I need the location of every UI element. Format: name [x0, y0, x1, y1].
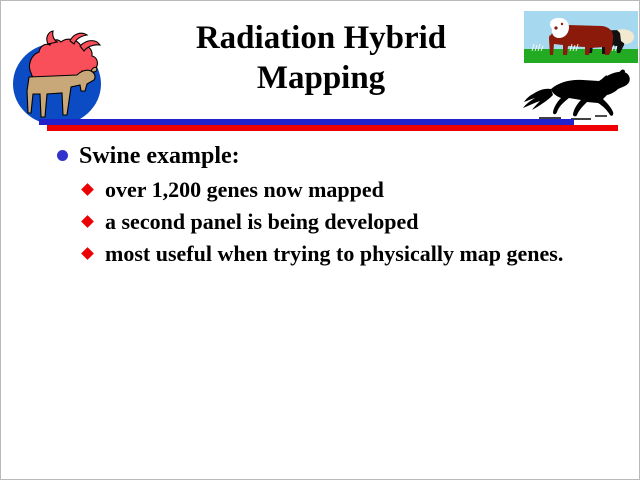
bullet-item-level2: most useful when trying to physically ma… — [81, 239, 621, 269]
bullet-level1-text: Swine example: — [79, 143, 240, 169]
sub-bullet-list: over 1,200 genes now mapped a second pan… — [81, 175, 621, 269]
title-line-2: Mapping — [121, 58, 521, 98]
bullet-item-level2: a second panel is being developed — [81, 207, 621, 237]
livestock-logo — [7, 5, 111, 125]
slide-canvas: Radiation Hybrid Mapping — [0, 0, 640, 480]
page-title: Radiation Hybrid Mapping — [121, 18, 521, 98]
bullet-item-level1: Swine example: — [51, 141, 621, 171]
blue-disc-bullet-icon — [57, 150, 68, 161]
title-line-1: Radiation Hybrid — [196, 20, 446, 56]
slide-body: Swine example: over 1,200 genes now mapp… — [51, 141, 621, 271]
bullet-level2-text: over 1,200 genes now mapped — [105, 177, 384, 202]
bullet-item-level2: over 1,200 genes now mapped — [81, 175, 621, 205]
red-diamond-bullet-icon — [81, 215, 94, 228]
bullet-level2-text: a second panel is being developed — [105, 209, 419, 234]
red-diamond-bullet-icon — [81, 247, 94, 260]
divider-bar-red — [47, 125, 618, 131]
cattle-in-pasture-picture — [524, 11, 638, 63]
red-diamond-bullet-icon — [81, 183, 94, 196]
galloping-horse-silhouette-icon — [521, 69, 639, 121]
bullet-level2-text: most useful when trying to physically ma… — [105, 241, 563, 266]
